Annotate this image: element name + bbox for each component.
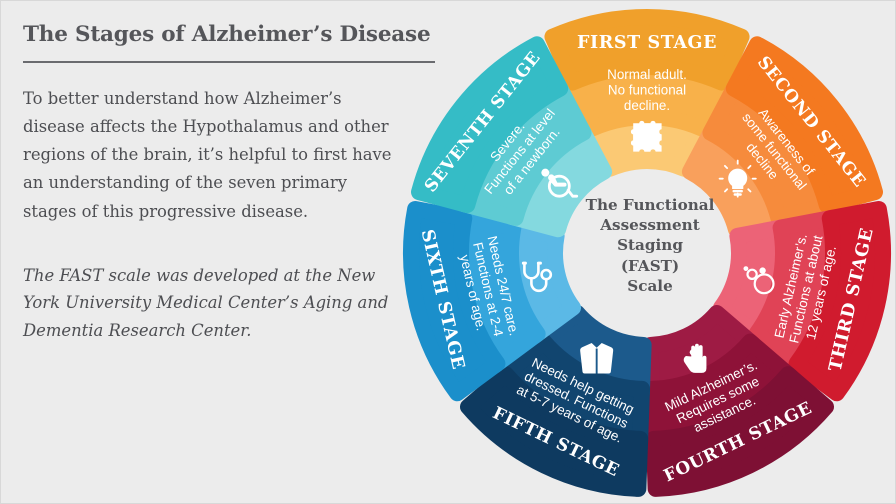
intro-paragraph: To better understand how Alzheimer’s dis…	[23, 85, 395, 226]
title-divider	[23, 61, 435, 63]
stage-name: FIRST STAGE	[577, 33, 717, 53]
fast-scale-note: The FAST scale was developed at the New …	[23, 262, 395, 345]
infographic-root: The Stages of Alzheimer’s Disease To bet…	[0, 0, 896, 504]
page-title: The Stages of Alzheimer’s Disease	[23, 23, 423, 48]
wheel-svg: FIRST STAGENormal adult.No functionaldec…	[399, 5, 895, 501]
stage-description-line: No functional	[608, 83, 686, 98]
stage-description-line: Normal adult.	[607, 67, 687, 82]
fast-wheel-diagram: FIRST STAGENormal adult.No functionaldec…	[399, 5, 895, 501]
puzzle-icon	[631, 121, 662, 152]
stage-description-line: decline.	[624, 98, 670, 113]
shirt-icon	[580, 341, 613, 373]
left-text-column: The Stages of Alzheimer’s Disease To bet…	[23, 23, 423, 345]
